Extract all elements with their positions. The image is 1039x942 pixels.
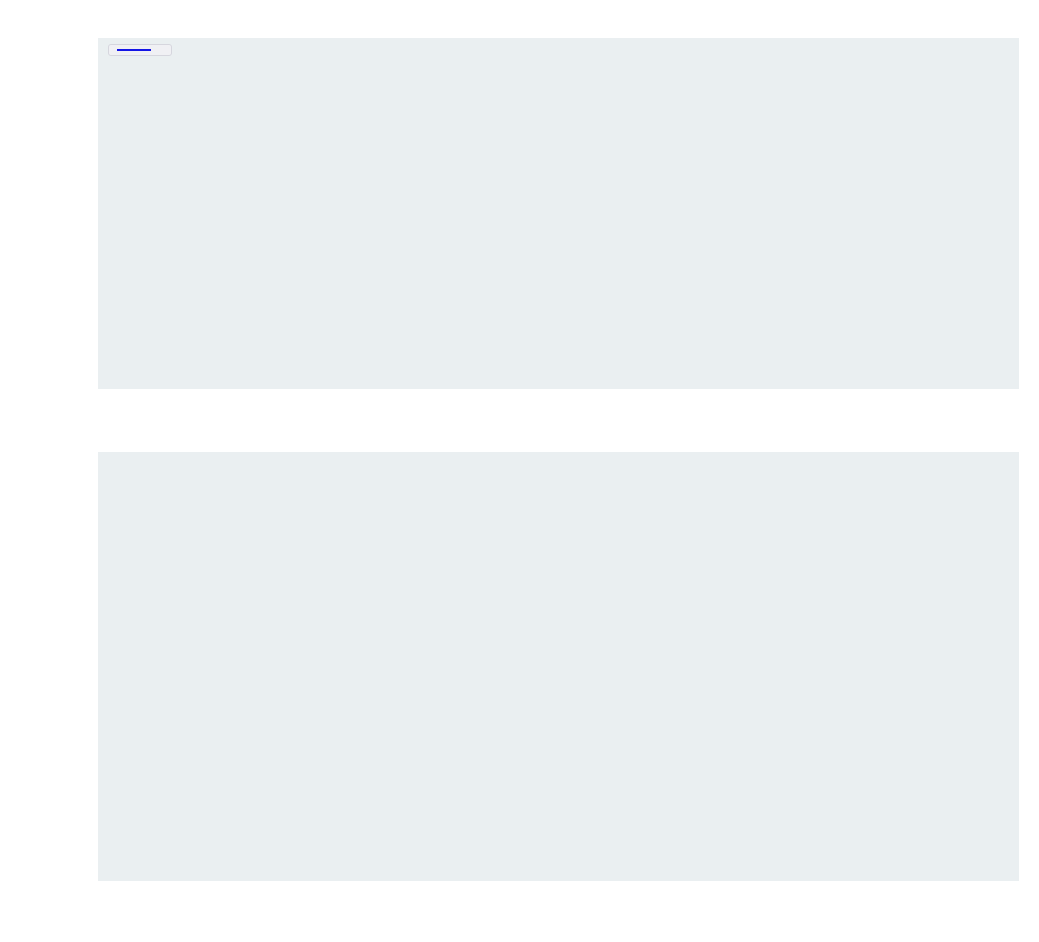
legend[interactable] <box>108 44 172 56</box>
box-plot-panel <box>98 38 1019 389</box>
bar-chart-panel <box>98 452 1019 881</box>
legend-line-swatch <box>117 49 151 51</box>
figure-canvas <box>0 0 1039 942</box>
